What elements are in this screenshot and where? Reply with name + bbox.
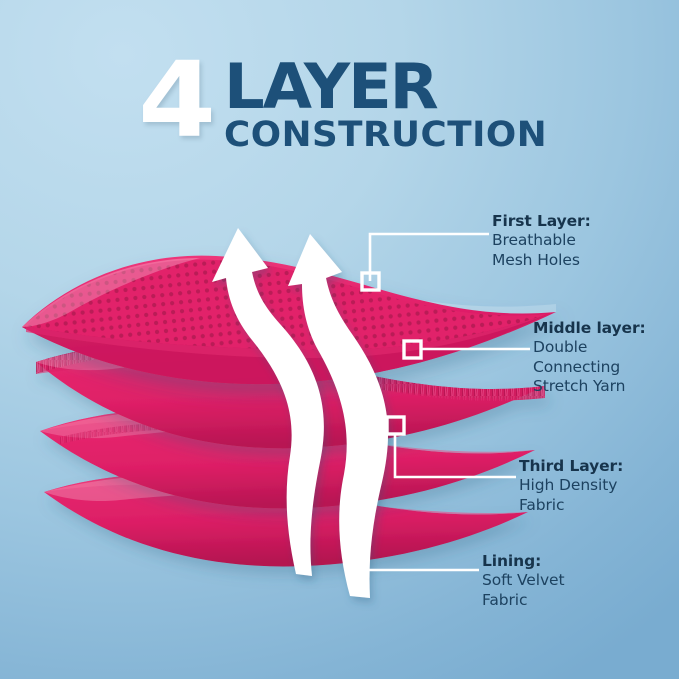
callout-first-layer: First Layer: Breathable Mesh Holes (492, 212, 591, 270)
callout-line-first-layer-1: Breathable (492, 231, 591, 251)
callout-line-middle-layer-3: Stretch Yarn (533, 377, 646, 397)
callout-line-third-layer-2: Fabric (519, 496, 623, 516)
callout-title-first-layer: First Layer: (492, 212, 591, 231)
callout-title-middle-layer: Middle layer: (533, 319, 646, 338)
callout-line-third-layer-1: High Density (519, 476, 623, 496)
callout-title-lining: Lining: (482, 552, 564, 571)
infographic-canvas: 4 LAYER CONSTRUCTION First Layer: Breath… (0, 0, 679, 679)
callout-third-layer: Third Layer: High Density Fabric (519, 457, 623, 515)
callout-middle-layer: Middle layer: Double Connecting Stretch … (533, 319, 646, 397)
callout-line-lining-2: Fabric (482, 591, 564, 611)
callout-lining: Lining: Soft Velvet Fabric (482, 552, 564, 610)
callout-line-lining-1: Soft Velvet (482, 571, 564, 591)
callout-line-middle-layer-2: Connecting (533, 358, 646, 378)
callout-title-third-layer: Third Layer: (519, 457, 623, 476)
callout-line-middle-layer-1: Double (533, 338, 646, 358)
callout-line-first-layer-2: Mesh Holes (492, 251, 591, 271)
connector-first-layer (362, 234, 489, 290)
